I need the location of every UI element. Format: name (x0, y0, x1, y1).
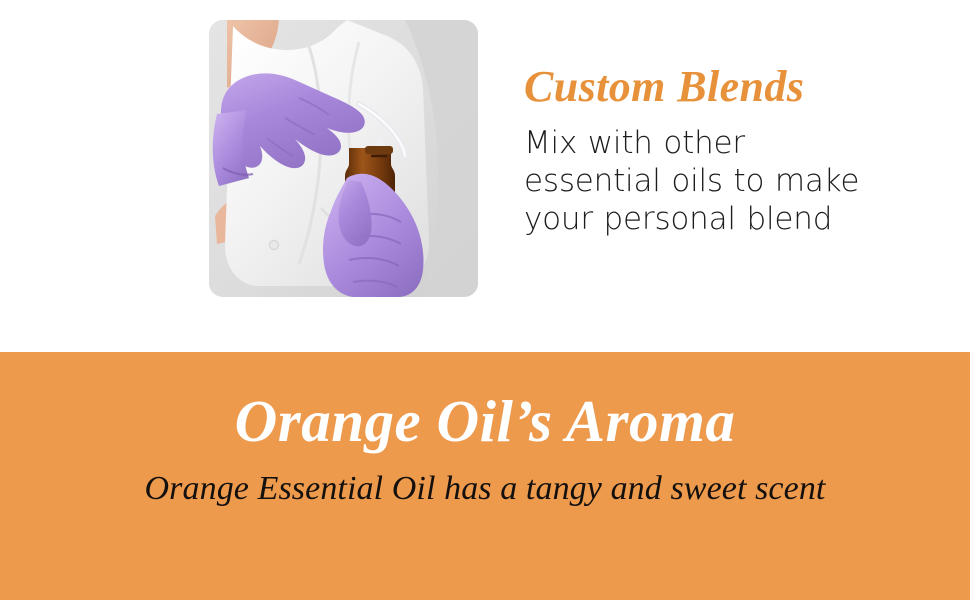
custom-blends-feature-section: Custom Blends Mix with other essential o… (0, 0, 970, 352)
essential-oil-dropper-photo-icon (209, 20, 478, 297)
custom-blends-photo (209, 20, 478, 297)
description-line-2: essential oils to make (524, 162, 924, 200)
aroma-banner-title: Orange Oil’s Aroma (0, 352, 970, 454)
custom-blends-heading: Custom Blends (524, 62, 924, 112)
product-infographic-page: Custom Blends Mix with other essential o… (0, 0, 970, 600)
aroma-banner-section: Orange Oil’s Aroma Orange Essential Oil … (0, 352, 970, 600)
custom-blends-text-block: Custom Blends Mix with other essential o… (524, 62, 924, 238)
custom-blends-description: Mix with other essential oils to make yo… (524, 124, 924, 238)
description-line-1: Mix with other (524, 124, 924, 162)
description-line-3: your personal blend (524, 200, 924, 238)
aroma-banner-subtitle: Orange Essential Oil has a tangy and swe… (0, 468, 970, 510)
